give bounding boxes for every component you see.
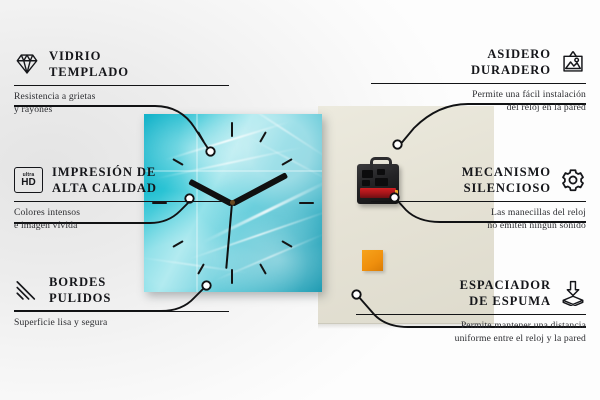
feature-desc-line2: no emiten ningún sonido: [371, 219, 586, 232]
feature-vidrio-templado: VIDRIO TEMPLADO Resistencia a grietas y …: [14, 48, 229, 116]
feature-title-line1: ESPACIADOR: [460, 277, 551, 293]
ultra-hd-icon-main: HD: [21, 178, 35, 189]
foam-spacer: [362, 250, 383, 271]
feature-desc-line2: y rayones: [14, 103, 229, 116]
feature-desc-line2: e imagen vívida: [14, 219, 229, 232]
feature-title-line2: PULIDOS: [49, 290, 111, 306]
feature-asidero-duradero: ASIDERO DURADERO Permite una fácil insta…: [371, 46, 586, 114]
hour-marker: [172, 240, 183, 248]
feature-desc-line1: Colores intensos: [14, 206, 229, 219]
feature-title-line1: BORDES: [49, 274, 111, 290]
feature-desc-line1: Permite una fácil instalación: [371, 88, 586, 101]
ultra-hd-icon: ultra HD: [14, 167, 43, 193]
feature-title-line1: MECANISMO: [462, 164, 551, 180]
feature-title-line1: IMPRESIÓN DE: [52, 164, 157, 180]
feature-desc-line1: Resistencia a grietas: [14, 90, 229, 103]
divider: [14, 85, 229, 87]
wall-hanger-frame-icon: [560, 49, 586, 75]
hour-marker: [231, 122, 233, 137]
divider: [371, 201, 586, 203]
feature-desc-line1: Permite mantener una distancia: [356, 319, 586, 332]
feature-title-line2: DURADERO: [471, 62, 551, 78]
feature-mecanismo-silencioso: MECANISMO SILENCIOSO Las manecillas del …: [371, 164, 586, 232]
feature-title-line2: DE ESPUMA: [460, 293, 551, 309]
feature-title-line2: ALTA CALIDAD: [52, 180, 157, 196]
diamond-icon: [14, 51, 40, 77]
feature-title-line1: ASIDERO: [471, 46, 551, 62]
divider: [14, 311, 229, 313]
feature-desc-line1: Las manecillas del reloj: [371, 206, 586, 219]
divider: [14, 201, 229, 203]
feature-desc-line1: Superficie lisa y segura: [14, 316, 229, 329]
hour-marker: [299, 202, 314, 204]
feature-title-line2: SILENCIOSO: [462, 180, 551, 196]
feature-espaciador-de-espuma: ESPACIADOR DE ESPUMA Permite mantener un…: [356, 277, 586, 345]
feature-title-line1: VIDRIO: [49, 48, 129, 64]
hour-marker: [231, 269, 233, 284]
divider: [371, 83, 586, 85]
feature-impresion-alta-calidad: ultra HD IMPRESIÓN DE ALTA CALIDAD Color…: [14, 164, 229, 232]
feature-desc-line2: del reloj en la pared: [371, 101, 586, 114]
feature-desc-line2: uniforme entre el reloj y la pared: [356, 332, 586, 345]
feature-bordes-pulidos: BORDES PULIDOS Superficie lisa y segura: [14, 274, 229, 329]
infographic-canvas: VIDRIO TEMPLADO Resistencia a grietas y …: [0, 0, 600, 400]
foam-spacer-arrow-icon: [560, 280, 586, 306]
divider: [356, 314, 586, 316]
polished-edge-icon: [14, 277, 40, 303]
clock-hub: [230, 200, 235, 205]
hour-marker: [281, 158, 292, 166]
feature-title-line2: TEMPLADO: [49, 64, 129, 80]
gear-icon: [560, 167, 586, 193]
